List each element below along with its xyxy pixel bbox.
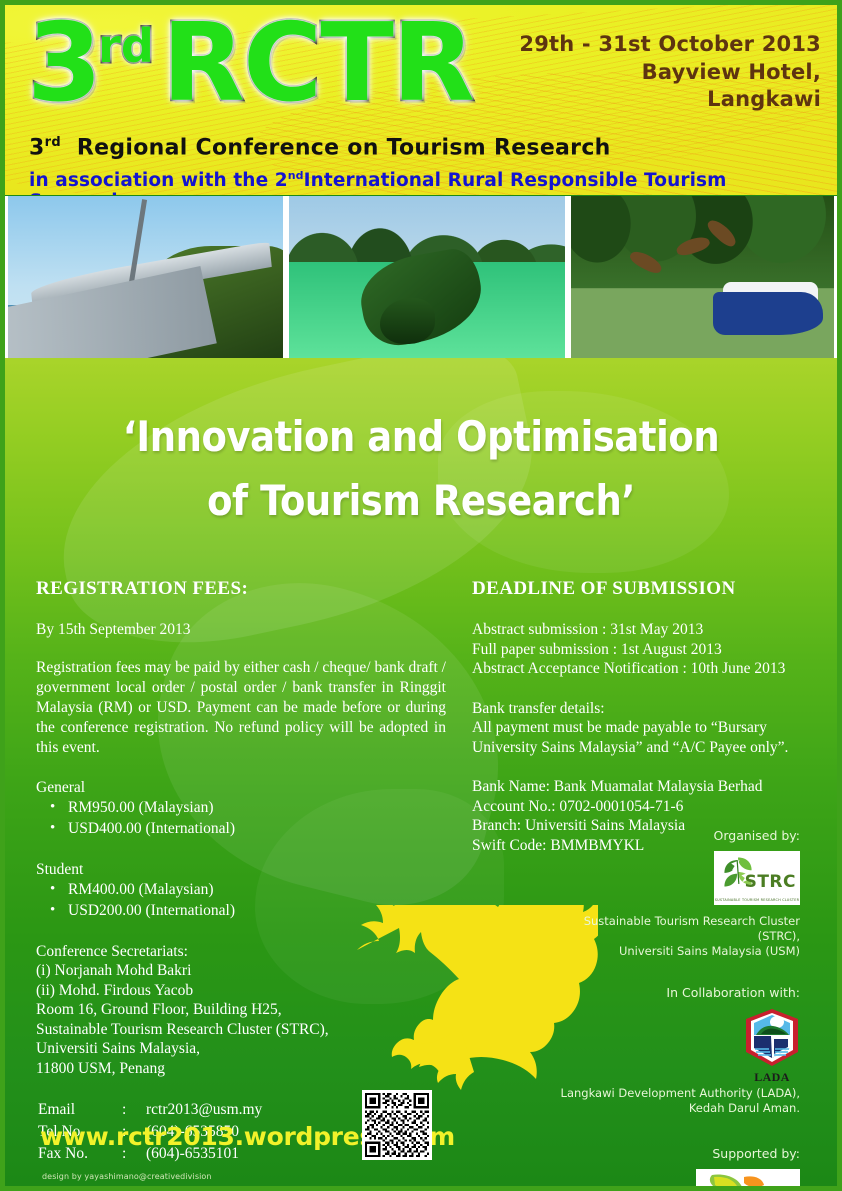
photo-island-lagoon [289,196,564,361]
fee-category-title-general: General [36,778,446,798]
registration-deadline: By 15th September 2013 [36,620,446,640]
strc-logo-tagline: SUSTAINABLE TOURISM RESEARCH CLUSTER [714,898,800,902]
photo-strip [5,196,837,361]
collaboration-line: Kedah Darul Aman. [538,1101,800,1116]
conference-logo: 3 rd RCTR [27,13,473,116]
contact-row-email: Email : rctr2013@usm.my [38,1100,262,1120]
collaboration-line: Langkawi Development Authority (LADA), [538,1086,800,1101]
photo-sky-bridge [8,196,283,361]
deadline-line: Full paper submission : 1st August 2013 [472,640,832,660]
event-venue-line2: Langkawi [519,86,821,114]
logo-ordinal-suffix: rd [98,19,154,73]
logo-ordinal: 3 [27,13,100,116]
supporter-logo: Responsible Rural Tourism Network R [696,1169,800,1191]
strc-logo-text: STRC [745,871,796,893]
contact-separator: : [122,1100,144,1120]
deadline-line: Abstract submission : 31st May 2013 [472,620,832,640]
logo-acronym: RCTR [162,13,473,116]
bank-transfer-note: University Sains Malaysia” and “A/C Paye… [472,738,832,758]
strc-logo: STRC SUSTAINABLE TOURISM RESEARCH CLUSTE… [714,851,800,905]
qr-code[interactable] [362,1090,432,1160]
subtitle-ordinal: 3 [29,135,45,160]
subtitle-ordinal-suffix: rd [45,135,61,150]
designer-credit: design by yayashimano@creativedivision [42,1172,212,1181]
organised-by-line: Universiti Sains Malaysia (USM) [538,944,800,959]
contact-label: Email [38,1100,120,1120]
organisers-area: Organised by: STRC SUSTAINABLE TOURISM R… [538,828,800,1191]
organised-by-line: Sustainable Tourism Research Cluster (ST… [538,914,800,944]
tour-boat [713,292,824,335]
event-date-venue: 29th - 31st October 2013 Bayview Hotel, … [519,31,821,114]
fee-item: USD400.00 (International) [50,819,446,840]
bank-transfer-note: All payment must be made payable to “Bur… [472,718,832,738]
contact-value-email[interactable]: rctr2013@usm.my [146,1100,262,1120]
submission-heading: DEADLINE OF SUBMISSION [472,578,832,600]
event-date: 29th - 31st October 2013 [519,31,821,59]
conference-full-name: 3rd Regional Conference on Tourism Resea… [29,135,611,160]
fee-list-general: RM950.00 (Malaysian) USD400.00 (Internat… [36,798,446,840]
poster-header: 3 rd RCTR 29th - 31st October 2013 Bayvi… [5,5,837,195]
bank-detail-line: Account No.: 0702-0001054-71-6 [472,797,832,817]
rural-tourism-network-icon: Responsible Rural Tourism Network R [696,1169,800,1191]
organised-by-label: Organised by: [538,828,800,845]
deadline-line: Abstract Acceptance Notification : 10th … [472,659,832,679]
forested-islet [380,298,435,344]
bank-detail-line: Bank Name: Bank Muamalat Malaysia Berhad [472,777,832,797]
supported-by-label: Supported by: [538,1146,800,1163]
assoc-ordinal-suffix: nd [288,169,304,182]
qr-code-image [365,1093,429,1157]
collaboration-label: In Collaboration with: [538,985,800,1002]
conference-theme: ‘Innovation and Optimisation of Tourism … [51,405,792,533]
subtitle-text: Regional Conference on Tourism Research [77,135,611,160]
photo-mangrove-eagle-tour [571,196,834,361]
theme-line-2: of Tourism Research’ [51,469,792,533]
theme-line-1: ‘Innovation and Optimisation [51,405,792,469]
association-line: in association with the 2ndInternational… [29,169,837,195]
bank-transfer-title: Bank transfer details: [472,699,832,719]
conference-poster: 3 rd RCTR 29th - 31st October 2013 Bayvi… [0,0,842,1191]
lada-logo: LADA [744,1008,800,1086]
fee-item: RM950.00 (Malaysian) [50,798,446,819]
lada-crest-icon [744,1008,800,1068]
fee-item: RM400.00 (Malaysian) [50,880,446,901]
registration-heading: REGISTRATION FEES: [36,578,446,600]
lada-logo-text: LADA [744,1070,800,1086]
fee-category-title-student: Student [36,860,446,880]
event-venue-line1: Bayview Hotel, [519,59,821,87]
assoc-prefix: in association with the 2 [29,170,288,191]
payment-note: Registration fees may be paid by either … [36,658,446,759]
submission-column: DEADLINE OF SUBMISSION Abstract submissi… [472,578,832,855]
